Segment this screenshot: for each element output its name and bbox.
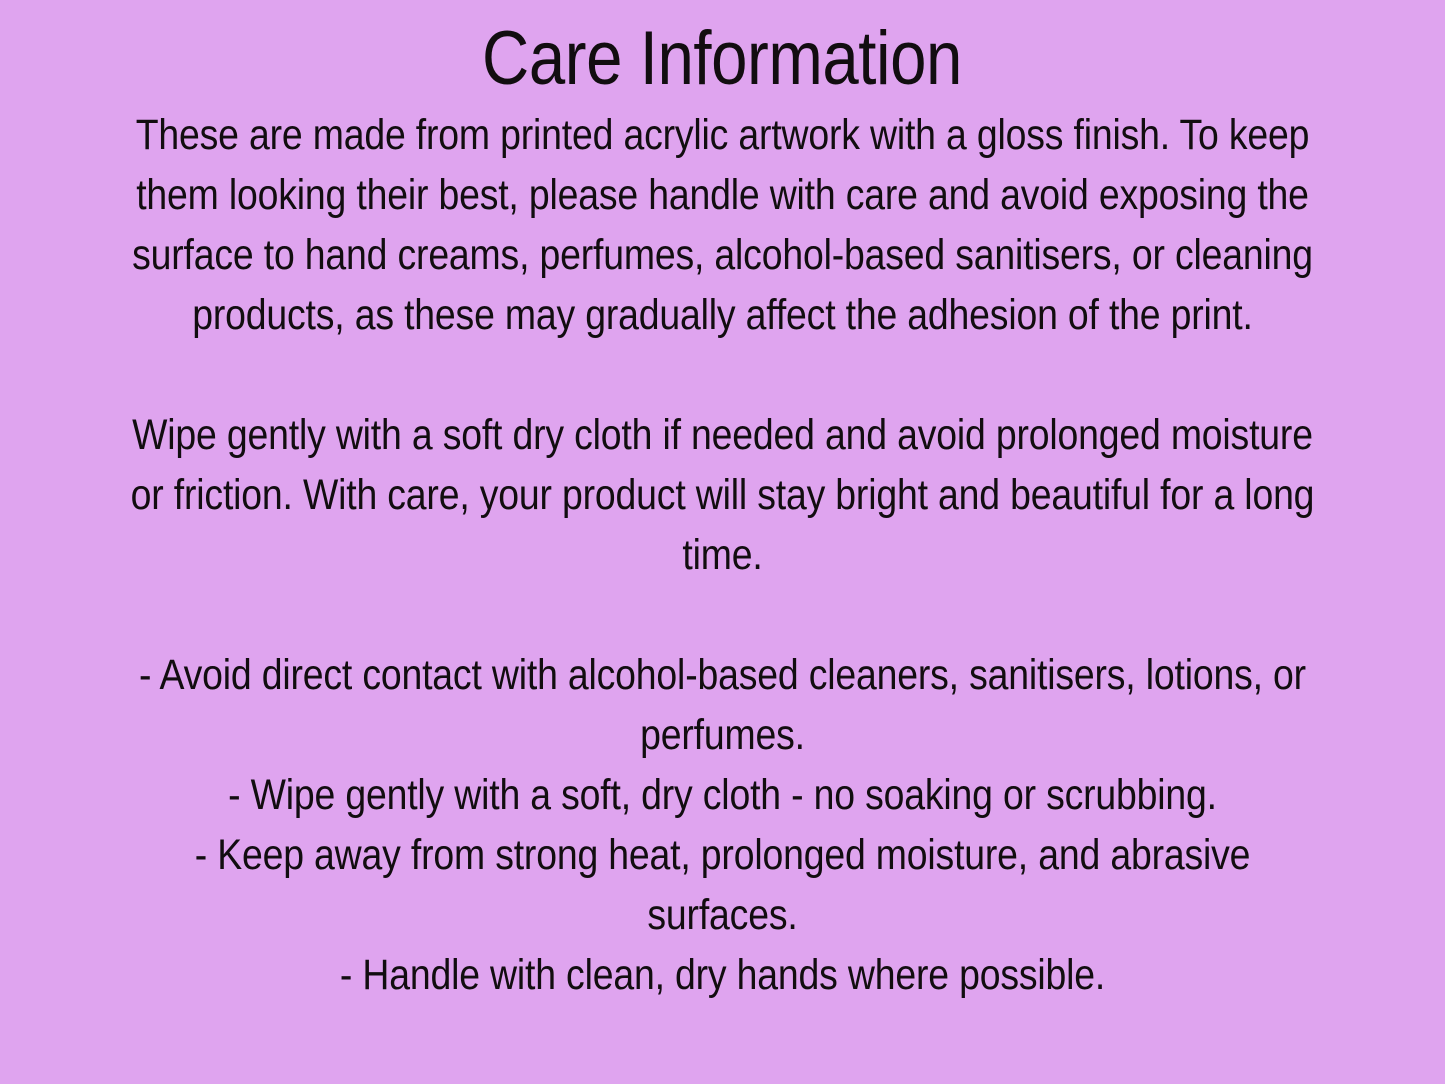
care-bullet-list: - Avoid direct contact with alcohol-base… [36,646,1409,1006]
block-spacer-2 [36,586,1409,646]
page-title: Care Information [483,16,963,102]
intro-block: These are made from printed acrylic artw… [36,106,1409,346]
list-item: - Keep away from strong heat, prolonged … [118,826,1326,946]
cleaning-paragraph: Wipe gently with a soft dry cloth if nee… [118,406,1326,586]
list-item: - Handle with clean, dry hands where pos… [118,946,1326,1006]
list-item: - Wipe gently with a soft, dry cloth - n… [118,766,1326,826]
care-information-card: Care Information These are made from pri… [0,0,1445,1084]
block-spacer-1 [36,346,1409,406]
intro-paragraph: These are made from printed acrylic artw… [118,106,1326,346]
list-item: - Avoid direct contact with alcohol-base… [118,646,1326,766]
cleaning-block: Wipe gently with a soft dry cloth if nee… [36,406,1409,586]
